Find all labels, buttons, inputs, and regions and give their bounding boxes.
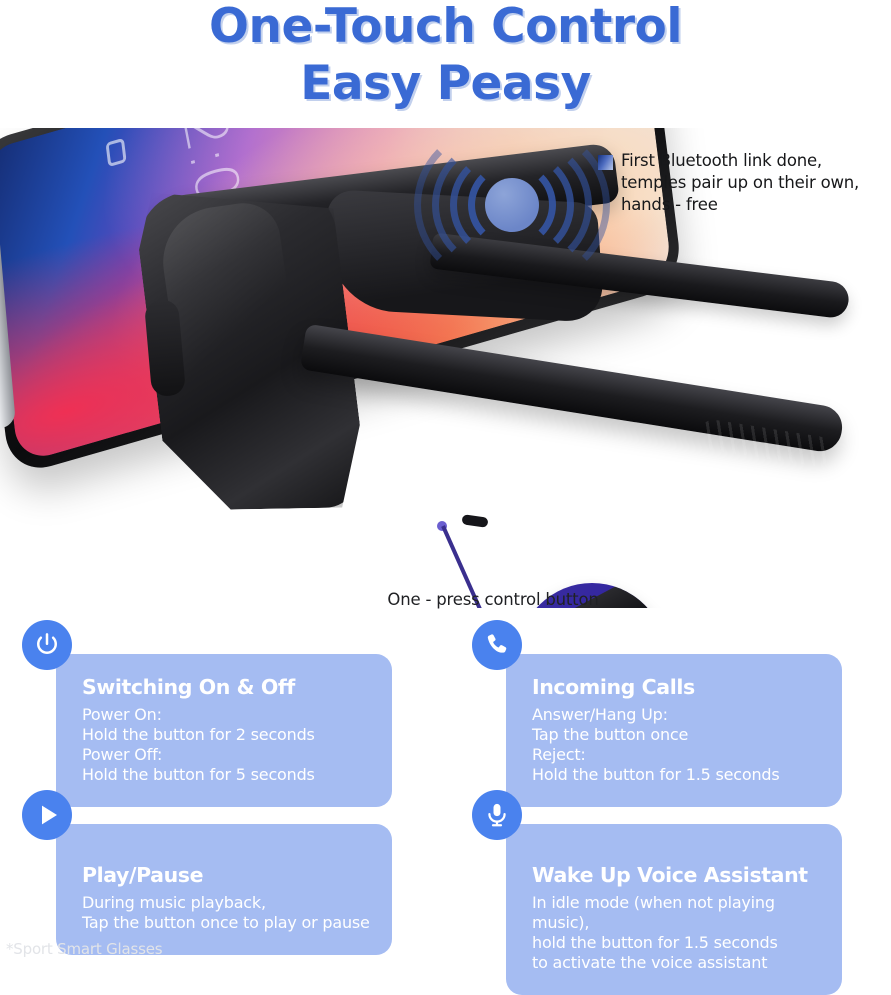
bluetooth-callout: First Bluetooth link done, temples pair … [598,150,891,216]
feature-body: In idle mode (when not playing music), h… [532,893,824,974]
feature-title: Wake Up Voice Assistant [532,864,824,888]
power-icon [22,620,72,670]
control-button [461,514,488,528]
microphone-icon [472,790,522,840]
feature-card: Incoming Calls Answer/Hang Up: Tap the b… [506,654,842,807]
blue-square-bullet-icon [598,155,613,170]
feature-title: Incoming Calls [532,676,824,700]
feature-body: Answer/Hang Up: Tap the button once Reje… [532,705,824,786]
bluetooth-callout-text: First Bluetooth link done, temples pair … [621,150,891,216]
footnote: *Sport Smart Glasses [6,940,162,958]
feature-body: Power On: Hold the button for 2 seconds … [82,705,374,786]
play-icon [22,790,72,840]
bluetooth-arc-right-4 [452,128,610,284]
feature-grid: Switching On & Off Power On: Hold the bu… [0,620,891,950]
page-title: One-Touch Control Easy Peasy [0,2,891,110]
page-title-line-1: One-Touch Control [0,2,891,53]
feature-card: Wake Up Voice Assistant In idle mode (wh… [506,824,842,995]
infographic-page: One-Touch Control Easy Peasy 2:09 [0,0,891,967]
feature-card: Play/Pause During music playback, Tap th… [56,824,392,955]
feature-card: Switching On & Off Power On: Hold the bu… [56,654,392,807]
feature-title: Play/Pause [82,864,374,888]
magnifier-caption: One - press control button [0,590,891,609]
feature-title: Switching On & Off [82,676,374,700]
bluetooth-signal-icon [412,136,612,256]
phone-call-icon [472,620,522,670]
page-title-line-2: Easy Peasy [0,59,891,110]
feature-body: During music playback, Tap the button on… [82,893,374,933]
